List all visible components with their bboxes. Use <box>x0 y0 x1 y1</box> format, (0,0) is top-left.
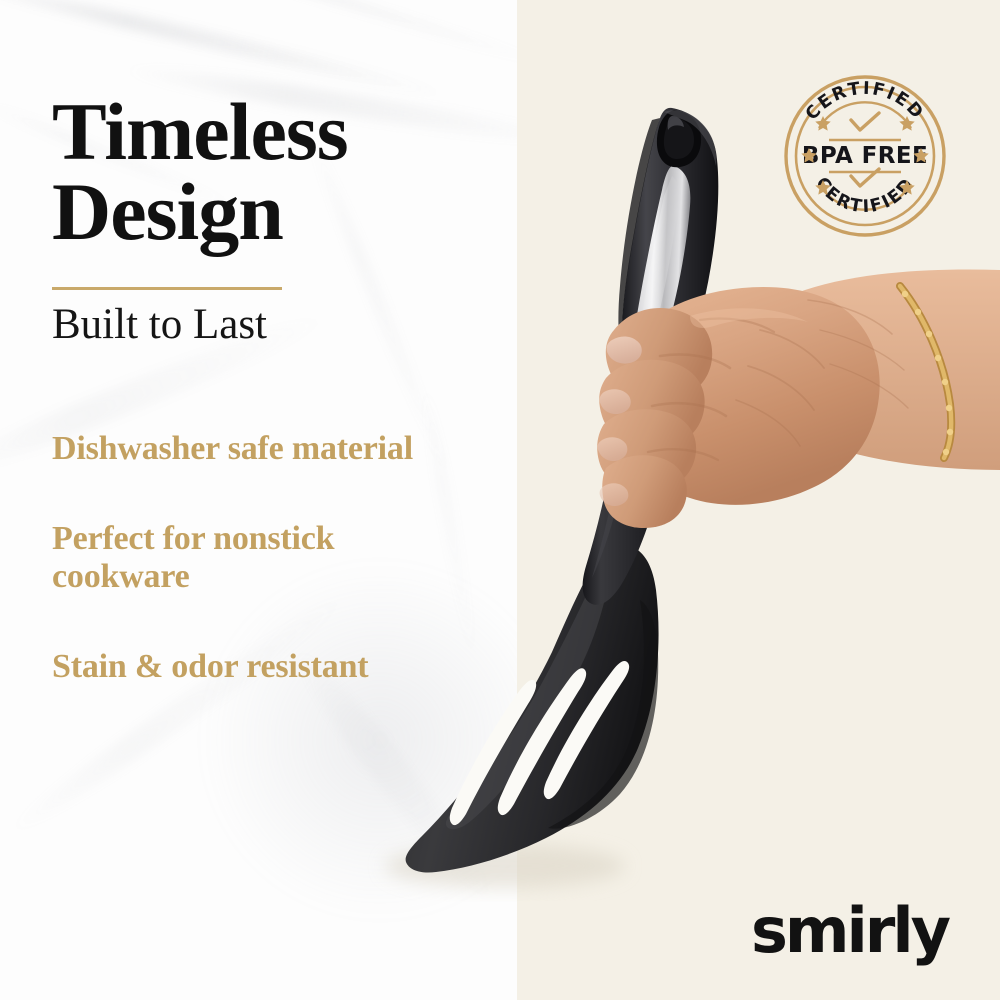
headline-line-1: Timeless <box>52 86 348 177</box>
product-marketing-image: Timeless Design Built to Last Dishwasher… <box>0 0 1000 1000</box>
feature-item: Stain & odor resistant <box>52 648 472 686</box>
feature-item: Perfect for nonstick cookware <box>52 520 472 596</box>
headline-line-2: Design <box>52 172 482 252</box>
page-title: Timeless Design <box>52 92 482 253</box>
subheading: Built to Last <box>52 300 267 349</box>
check-icon <box>851 113 879 130</box>
gold-divider-rule <box>52 287 282 290</box>
brand-logo: smirly <box>751 900 948 962</box>
bpa-free-badge: CERTIFIED CERTIFIED BPA FREE <box>781 72 949 240</box>
badge-center-text: BPA FREE <box>802 143 928 169</box>
feature-list: Dishwasher safe material Perfect for non… <box>52 430 472 686</box>
feature-item: Dishwasher safe material <box>52 430 472 468</box>
